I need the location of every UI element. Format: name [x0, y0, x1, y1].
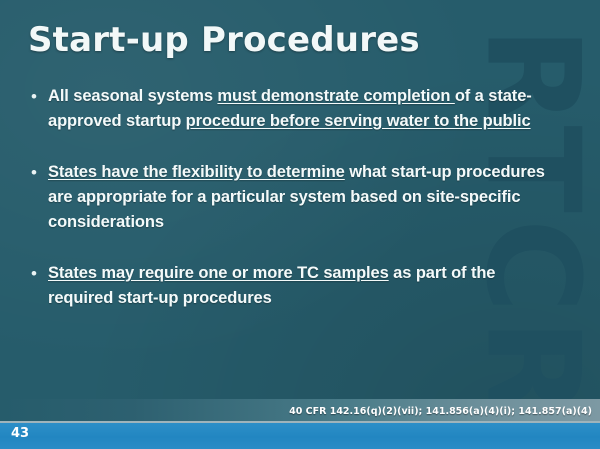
bullet-marker: • [26, 84, 48, 109]
citation-band: 40 CFR 142.16(q)(2)(vii); 141.856(a)(4)(… [0, 399, 600, 423]
citation-text: 40 CFR 142.16(q)(2)(vii); 141.856(a)(4)(… [289, 406, 600, 417]
bullet-text: All seasonal systems must demonstrate co… [48, 84, 560, 134]
bullet-tc-samples: • States may require one or more TC samp… [26, 261, 560, 311]
emphasized-text: procedure before serving water to the pu… [186, 112, 531, 130]
slide: RTCR Start-up Procedures • All seasonal … [0, 0, 600, 449]
emphasized-text: States may require one or more TC sample… [48, 264, 389, 282]
bullet-list: • All seasonal systems must demonstrate … [26, 84, 560, 337]
bullet-marker: • [26, 160, 48, 185]
emphasized-text: must demonstrate completion [217, 87, 454, 105]
bullet-state-flexibility: • States have the flexibility to determi… [26, 160, 560, 235]
page-title: Start-up Procedures [28, 20, 420, 60]
slide-number: 43 [11, 426, 29, 441]
plain-text: All seasonal systems [48, 87, 217, 105]
bullet-text: States may require one or more TC sample… [48, 261, 560, 311]
emphasized-text: States have the flexibility to determine [48, 163, 345, 181]
footer-bar: 43 [0, 421, 600, 449]
bullet-seasonal-systems: • All seasonal systems must demonstrate … [26, 84, 560, 134]
bullet-marker: • [26, 261, 48, 286]
bullet-text: States have the flexibility to determine… [48, 160, 560, 235]
